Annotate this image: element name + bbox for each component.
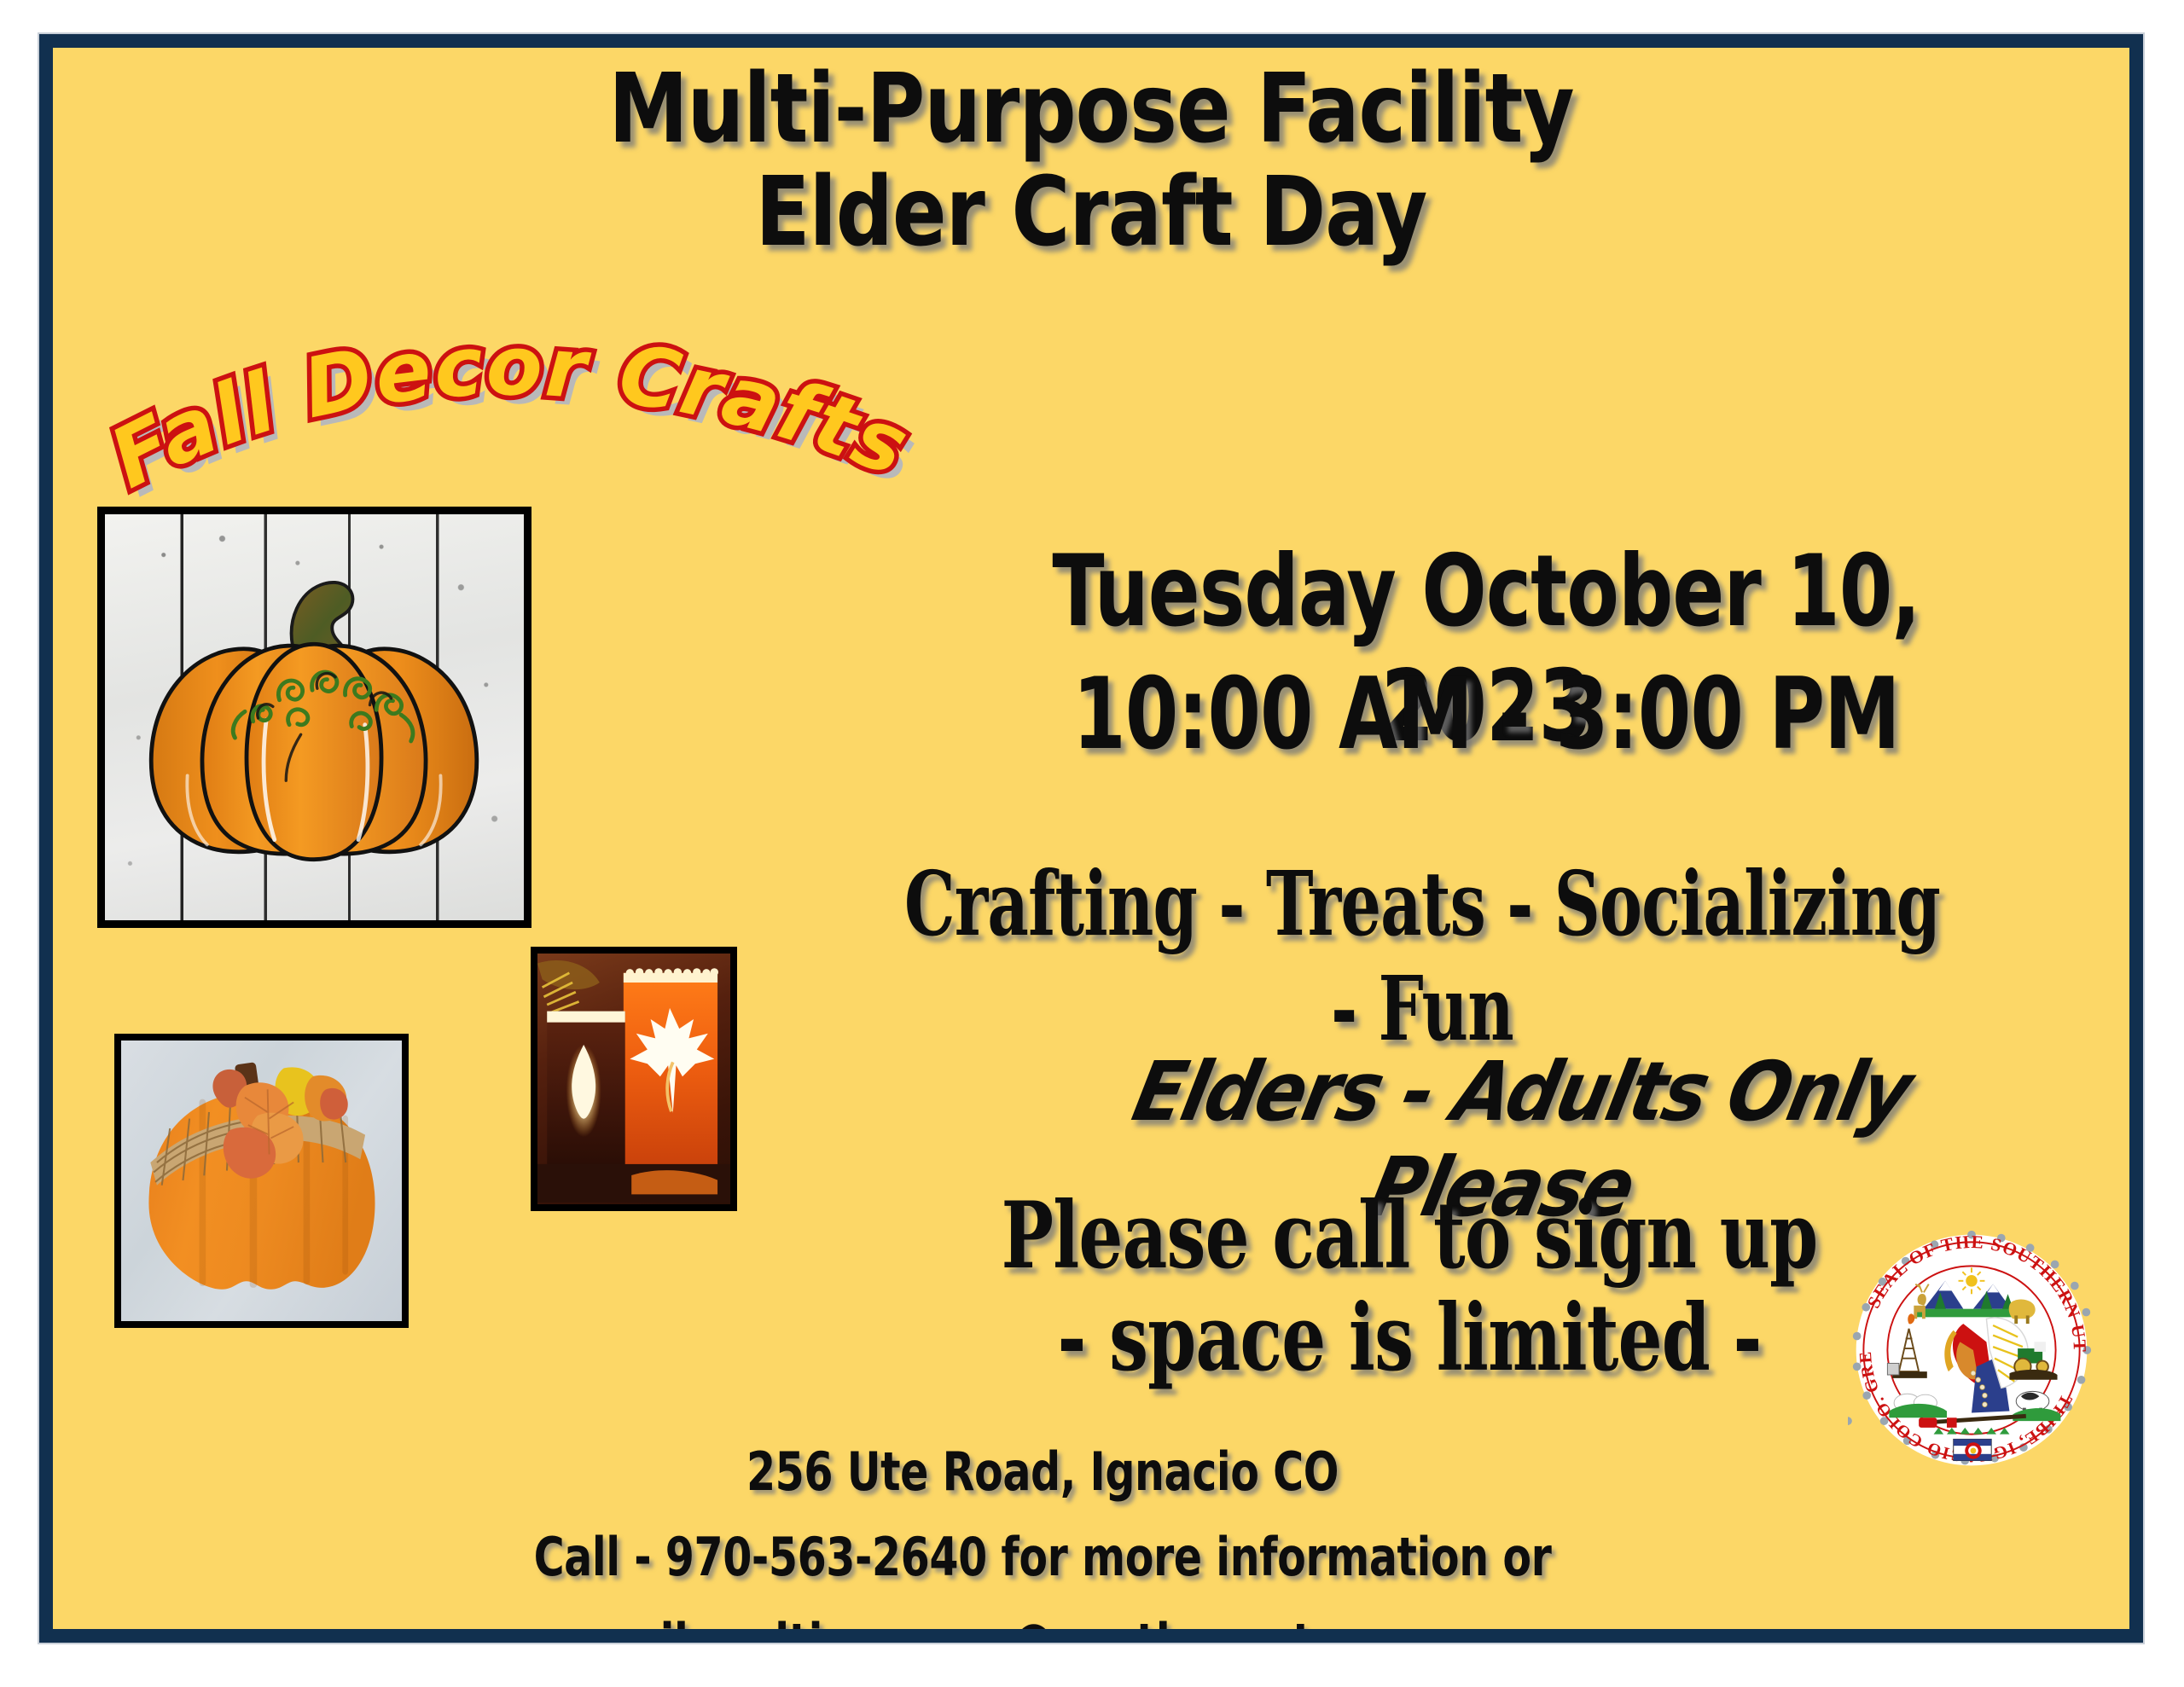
flyer-canvas: Multi-Purpose Facility Elder Craft Day F… — [53, 48, 2129, 1629]
arc-text-main-path: Fall Decor Crafts — [96, 318, 922, 507]
southern-ute-indian-tribe-seal: SEAL OF THE SOUTHERN UTE INDIAN TRIBE, I… — [1848, 1226, 2095, 1474]
contact-phone: Call - 970-563-2640 for more information… — [457, 1515, 1629, 1600]
pumpkin-illustration — [105, 514, 524, 920]
burlap-pumpkin-illustration — [121, 1041, 402, 1321]
luminary-illustration — [537, 954, 730, 1204]
event-time: 10:00 AM - 3:00 PM — [944, 657, 2030, 772]
event-features: Crafting - Treats - Socializing - Fun — [886, 851, 1958, 1061]
contact-address: 256 Ute Road, Ignacio CO — [457, 1429, 1629, 1515]
headline-line-1: Multi-Purpose Facility — [125, 58, 2057, 161]
arc-text-shadow-path: Fall Decor Crafts — [104, 327, 931, 515]
flyer-poster: Multi-Purpose Facility Elder Craft Day F… — [39, 34, 2143, 1643]
signup-call-to-action: Please call to sign up — [872, 1182, 1947, 1290]
page-title: Multi-Purpose Facility Elder Craft Day — [125, 58, 2057, 264]
signup-space-limited: - space is limited - — [872, 1284, 1947, 1392]
fall-luminary-photo — [531, 947, 737, 1211]
headline-line-2: Elder Craft Day — [125, 161, 2057, 264]
arc-text-main: Fall Decor Crafts — [96, 318, 922, 507]
arc-text-shadow: Fall Decor Crafts — [104, 327, 931, 515]
contact-block: 256 Ute Road, Ignacio CO Call - 970-563-… — [457, 1429, 1629, 1629]
contact-email: e-mail multipurpose@southernute-nsn.gov — [457, 1601, 1629, 1629]
wood-pumpkin-craft-photo — [114, 1034, 409, 1328]
painted-pumpkin-photo — [97, 507, 531, 928]
